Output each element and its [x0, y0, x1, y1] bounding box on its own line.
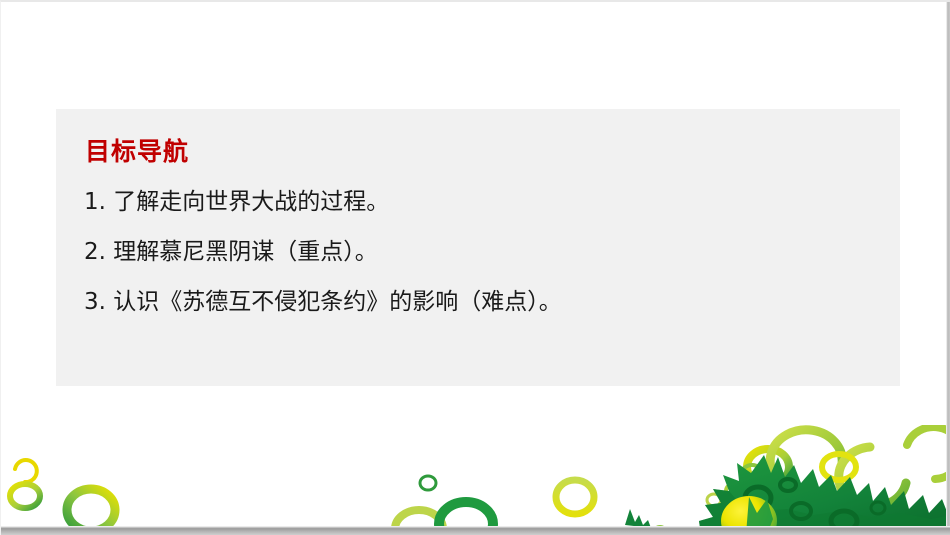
page-title: 目标导航 — [85, 139, 872, 164]
decor-arcs — [770, 427, 950, 507]
goal-panel: 目标导航 1. 了解走向世界大战的过程。 2. 理解慕尼黑阴谋（重点）。 3. … — [56, 109, 900, 386]
goal-item-2: 2. 理解慕尼黑阴谋（重点）。 — [84, 241, 872, 264]
maple-leaf-splash-icon — [1, 425, 950, 535]
decor-rings-right — [707, 449, 789, 506]
slide-frame-bottom — [1, 526, 950, 535]
goal-list: 1. 了解走向世界大战的过程。 2. 理解慕尼黑阴谋（重点）。 3. 认识《苏德… — [84, 191, 872, 314]
bottom-decoration — [1, 425, 950, 535]
goal-item-3: 3. 认识《苏德互不侵犯条约》的影响（难点）。 — [84, 291, 872, 314]
decor-rings-left — [10, 460, 115, 531]
leaf-shape — [699, 455, 950, 535]
slide-canvas: 目标导航 1. 了解走向世界大战的过程。 2. 理解慕尼黑阴谋（重点）。 3. … — [0, 0, 950, 535]
slide-frame-right — [946, 2, 950, 535]
goal-item-1: 1. 了解走向世界大战的过程。 — [84, 191, 872, 214]
